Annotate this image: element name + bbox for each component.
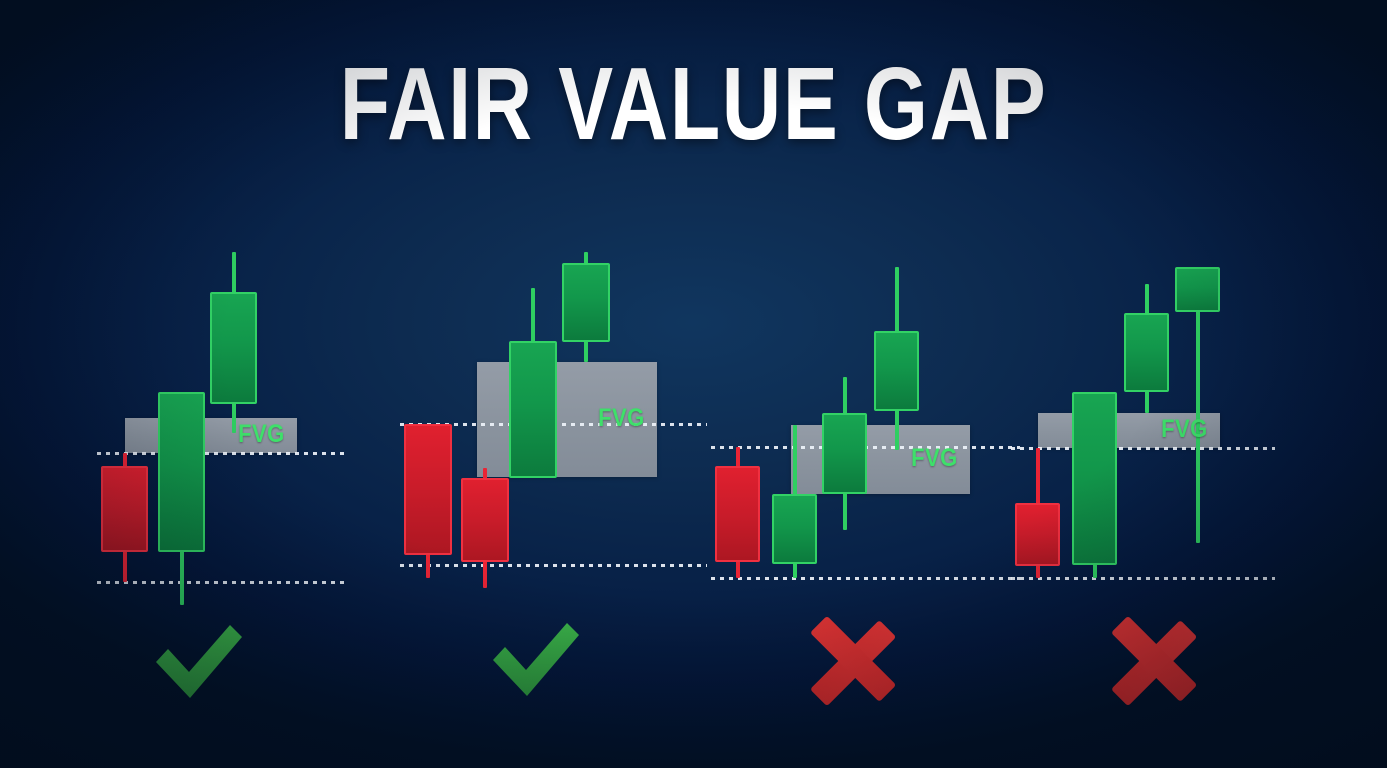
- cross-icon: [1106, 618, 1198, 704]
- candle-body-2-bullish: [1072, 392, 1117, 565]
- reference-line-candle2-low: [1011, 577, 1275, 580]
- check-icon: [150, 620, 246, 706]
- reference-line-candle1-high: [1011, 447, 1275, 450]
- fvg-zone: [1038, 413, 1220, 448]
- candle-body-3-bullish: [1124, 313, 1169, 392]
- candle-body-1-bearish: [1015, 503, 1060, 566]
- check-icon: [487, 618, 583, 704]
- cross-icon: [805, 618, 897, 704]
- infographic-canvas: FAIR VALUE GAP FVGFVGFVGFVG: [0, 0, 1387, 768]
- candle-body-4-bullish: [1175, 267, 1220, 312]
